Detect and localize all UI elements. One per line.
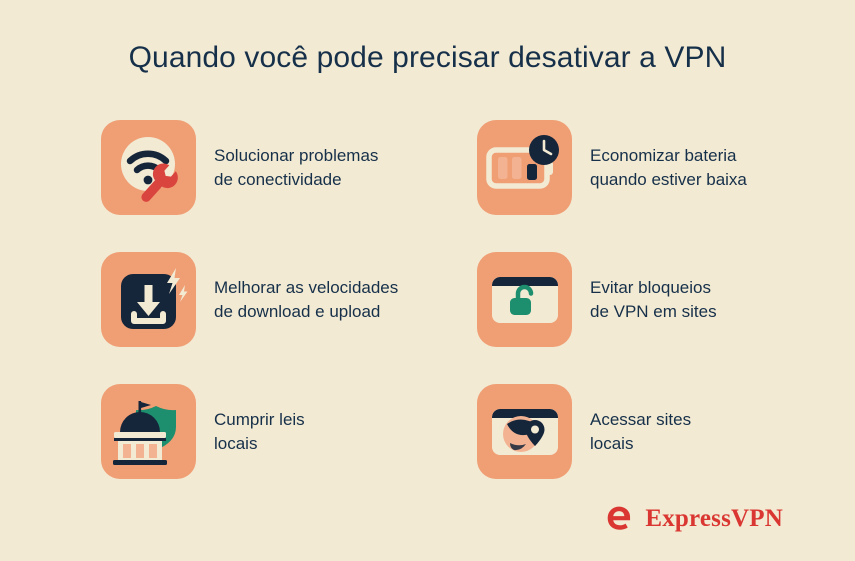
list-item-label: Solucionar problemas de conectividade: [214, 144, 378, 192]
browser-unlock-icon: [477, 252, 572, 347]
download-bolt-icon: [101, 252, 196, 347]
list-item: Economizar bateria quando estiver baixa: [431, 120, 761, 215]
list-item-label: Cumprir leis locais: [214, 408, 305, 456]
infographic-root: Quando você pode precisar desativar a VP…: [0, 0, 855, 561]
wifi-wrench-icon: [101, 120, 196, 215]
benefits-grid: Solucionar problemas de conectividade: [101, 120, 761, 516]
courthouse-shield-icon: [101, 384, 196, 479]
expressvpn-logo-text: ExpressVPN: [645, 505, 783, 533]
list-item: Evitar bloqueios de VPN em sites: [431, 252, 761, 347]
battery-clock-icon: [477, 120, 572, 215]
list-item-label: Acessar sites locais: [590, 408, 691, 456]
list-item: Acessar sites locais: [431, 384, 761, 479]
list-item-label: Evitar bloqueios de VPN em sites: [590, 276, 717, 324]
list-item-label: Economizar bateria quando estiver baixa: [590, 144, 747, 192]
list-item: Cumprir leis locais: [101, 384, 431, 479]
list-item: Solucionar problemas de conectividade: [101, 120, 431, 215]
list-item: Melhorar as velocidades de download e up…: [101, 252, 431, 347]
expressvpn-logo-mark: [602, 502, 636, 536]
grid-row: Solucionar problemas de conectividade: [101, 120, 761, 215]
grid-row: Melhorar as velocidades de download e up…: [101, 252, 761, 347]
list-item-label: Melhorar as velocidades de download e up…: [214, 276, 398, 324]
page-title: Quando você pode precisar desativar a VP…: [0, 38, 855, 78]
grid-row: Cumprir leis locais: [101, 384, 761, 479]
browser-globe-pin-icon: [477, 384, 572, 479]
expressvpn-logo: ExpressVPN: [602, 502, 783, 536]
